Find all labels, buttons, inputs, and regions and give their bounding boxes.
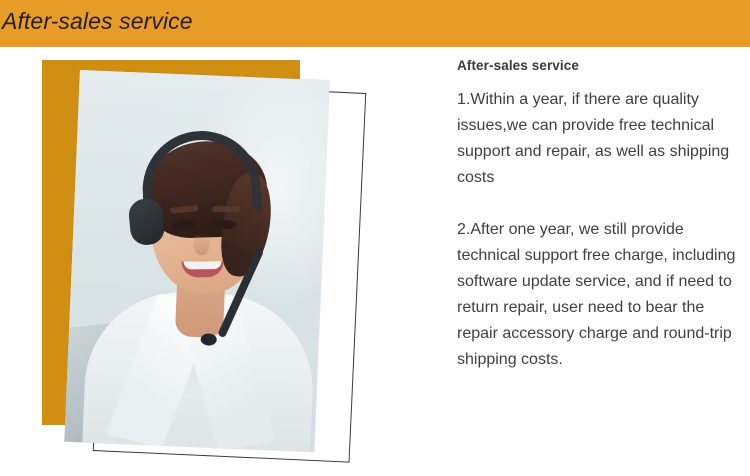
page-title: After-sales service: [2, 8, 193, 35]
paragraph-spacer: [457, 191, 742, 217]
headset-earcup-icon: [127, 197, 165, 246]
media-panel: [0, 47, 440, 476]
photo-canvas: [64, 70, 329, 452]
person-teeth: [184, 261, 222, 269]
text-column: After-sales service 1.Within a year, if …: [457, 58, 742, 373]
header-banner: After-sales service: [0, 0, 750, 47]
policy-paragraph-2: 2.After one year, we still provide techn…: [457, 217, 742, 373]
policy-paragraph-1: 1.Within a year, if there are quality is…: [457, 87, 742, 191]
support-agent-photo: [64, 70, 329, 452]
section-heading: After-sales service: [457, 58, 742, 73]
person-eye-right: [214, 220, 237, 229]
